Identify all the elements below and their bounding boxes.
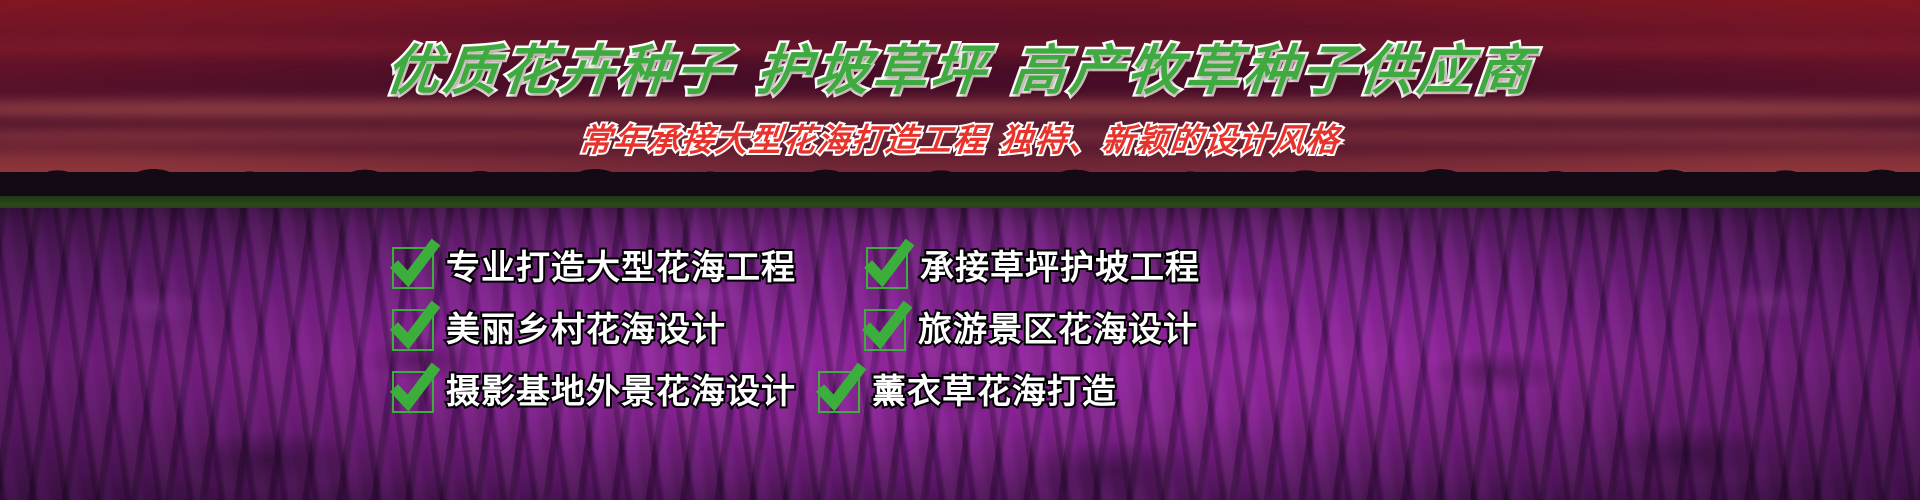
checklist-item-label: 承接草坪护坡工程 xyxy=(920,251,1200,285)
checklist-item: 美丽乡村花海设计 xyxy=(392,306,810,354)
check-mark-icon xyxy=(392,247,434,289)
check-mark-icon xyxy=(866,247,908,289)
promo-banner: 优质花卉种子 护坡草坪 高产牧草种子供应商 常年承接大型花海打造工程 独特、新颖… xyxy=(0,0,1920,500)
checklist-item-label: 专业打造大型花海工程 xyxy=(446,251,796,285)
checklist-item: 专业打造大型花海工程 xyxy=(392,244,810,292)
check-mark-icon xyxy=(818,371,860,413)
banner-content: 优质花卉种子 护坡草坪 高产牧草种子供应商 常年承接大型花海打造工程 独特、新颖… xyxy=(0,0,1920,500)
checklist-item: 承接草坪护坡工程 xyxy=(866,244,1452,292)
checklist-item-label: 旅游景区花海设计 xyxy=(918,313,1198,347)
checklist-item: 薰衣草花海打造 xyxy=(818,368,1452,416)
checklist-item-label: 美丽乡村花海设计 xyxy=(446,313,726,347)
feature-checklist: 专业打造大型花海工程 承接草坪护坡工程 美丽乡村花海设计 xyxy=(392,244,1452,416)
checklist-item-label: 摄影基地外景花海设计 xyxy=(446,375,796,409)
checklist-item-label: 薰衣草花海打造 xyxy=(872,375,1117,409)
checklist-item: 旅游景区花海设计 xyxy=(864,306,1452,354)
check-mark-icon xyxy=(864,309,906,351)
banner-subheadline: 常年承接大型花海打造工程 独特、新颖的设计风格 xyxy=(0,124,1920,156)
check-mark-icon xyxy=(392,309,434,351)
check-mark-icon xyxy=(392,371,434,413)
banner-headline: 优质花卉种子 护坡草坪 高产牧草种子供应商 xyxy=(0,44,1920,98)
checklist-item: 摄影基地外景花海设计 xyxy=(392,368,810,416)
